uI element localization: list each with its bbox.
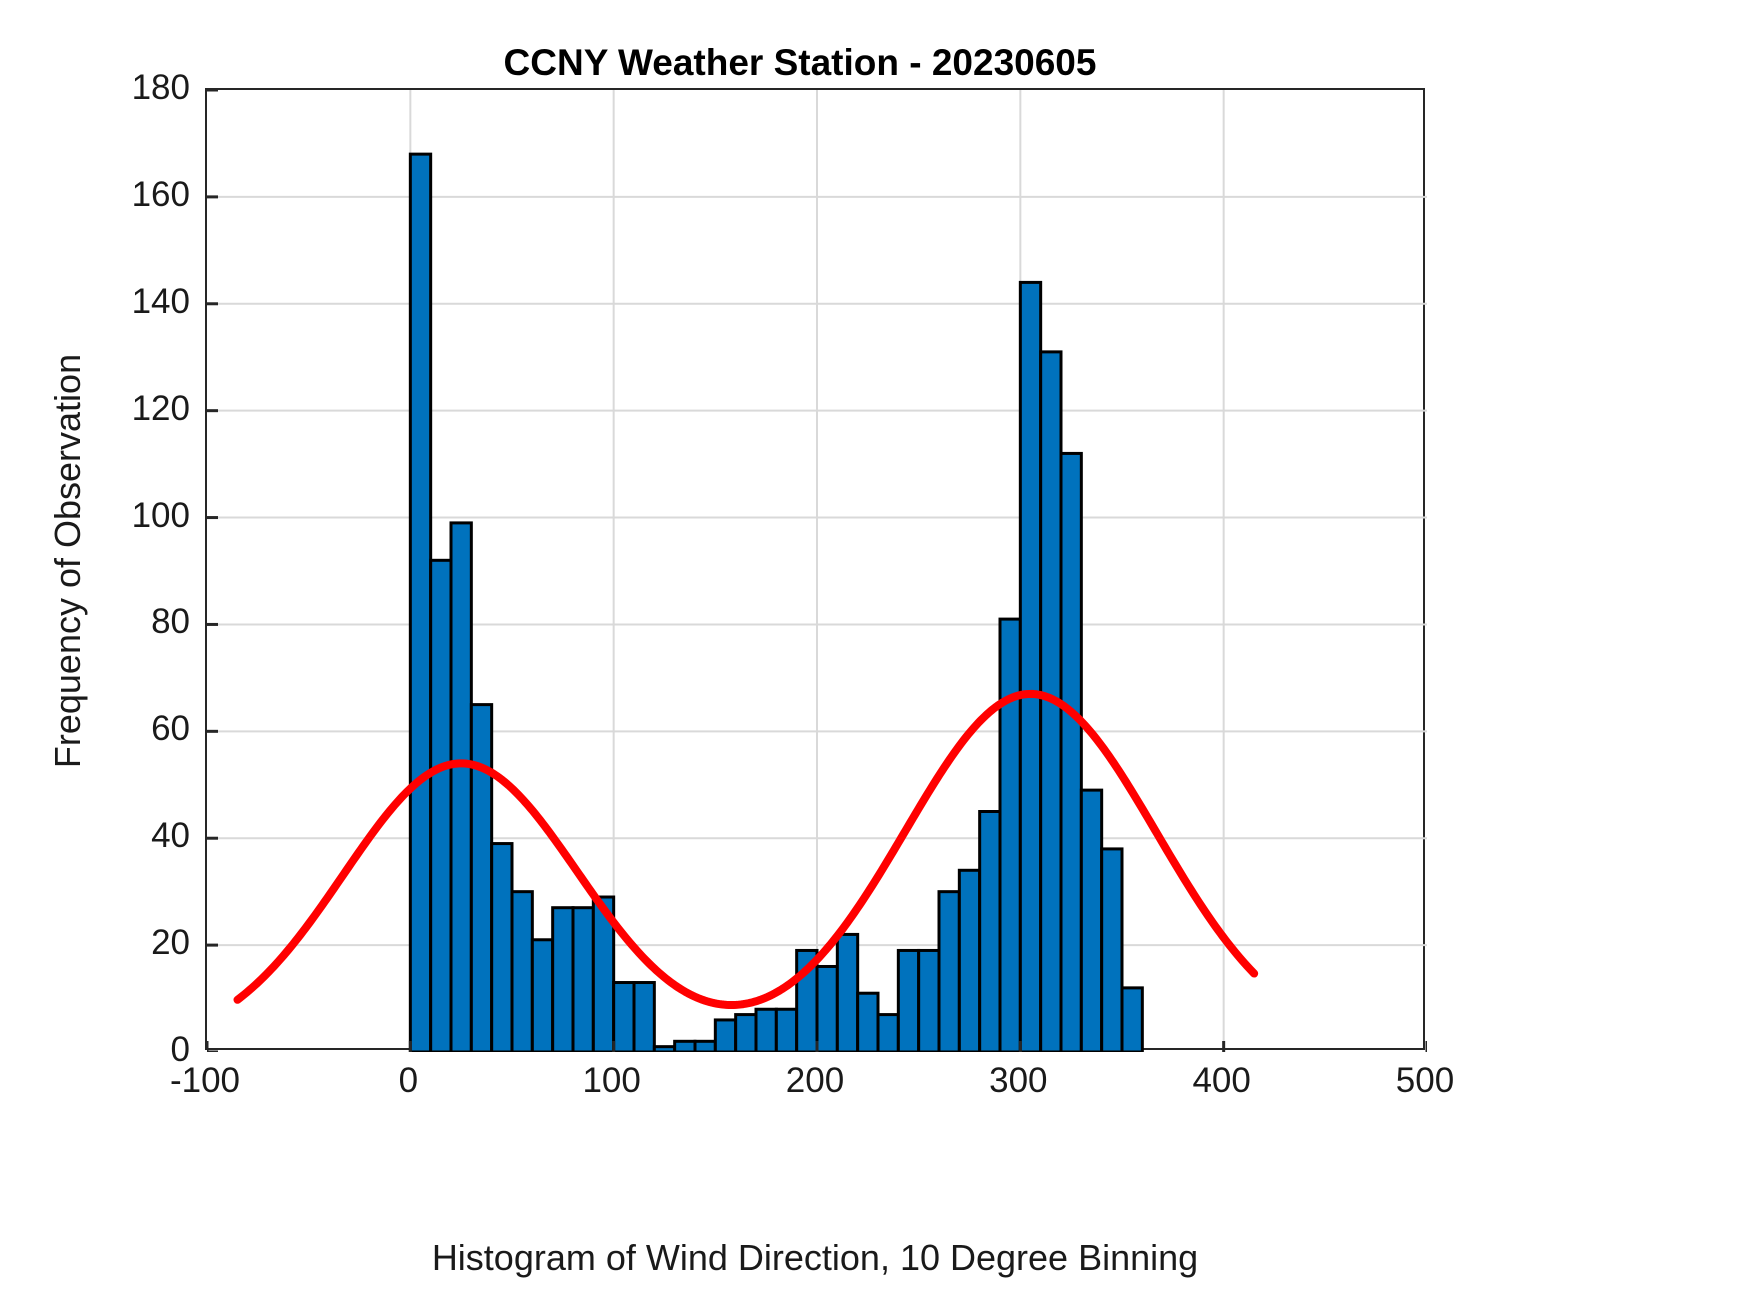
- histogram-bar: [817, 966, 837, 1052]
- y-tick-label: 20: [60, 925, 190, 960]
- x-axis-tick-labels: -1000100200300400500: [0, 1063, 1750, 1123]
- histogram-bar: [532, 940, 552, 1052]
- x-tick-label: 400: [1122, 1063, 1322, 1098]
- histogram-bar: [614, 983, 634, 1052]
- histogram-bar: [715, 1020, 735, 1052]
- histogram-bar: [1000, 619, 1020, 1052]
- histogram-bar: [410, 154, 430, 1052]
- histogram-bars: [410, 154, 1142, 1052]
- y-tick-label: 60: [60, 711, 190, 746]
- histogram-bar: [1061, 453, 1081, 1052]
- histogram-bar: [756, 1009, 776, 1052]
- x-tick-label: 500: [1325, 1063, 1525, 1098]
- x-tick-label: -100: [105, 1063, 305, 1098]
- y-tick-label: 100: [60, 498, 190, 533]
- x-tick-label: 300: [918, 1063, 1118, 1098]
- histogram-bar: [980, 812, 1000, 1053]
- histogram-bar: [939, 892, 959, 1052]
- histogram-bar: [675, 1041, 695, 1052]
- histogram-bar: [858, 993, 878, 1052]
- histogram-bar: [837, 934, 857, 1052]
- histogram-bar: [431, 560, 451, 1052]
- histogram-bar: [1122, 988, 1142, 1052]
- histogram-bar: [695, 1041, 715, 1052]
- y-tick-label: 140: [60, 284, 190, 319]
- histogram-bar: [471, 705, 491, 1052]
- histogram-bar: [1081, 790, 1101, 1052]
- y-tick-label: 160: [60, 177, 190, 212]
- histogram-bar: [1020, 282, 1040, 1052]
- histogram-bar: [776, 1009, 796, 1052]
- histogram-bar: [634, 983, 654, 1052]
- gridlines: [207, 90, 1427, 1052]
- y-tick-label: 40: [60, 818, 190, 853]
- y-tick-label: 120: [60, 391, 190, 426]
- x-tick-label: 200: [715, 1063, 915, 1098]
- histogram-bar: [654, 1047, 674, 1052]
- histogram-bar: [553, 908, 573, 1052]
- histogram-bar: [736, 1015, 756, 1052]
- histogram-bar: [959, 870, 979, 1052]
- histogram-bar: [1102, 849, 1122, 1052]
- y-tick-label: 80: [60, 604, 190, 639]
- x-axis-label: Histogram of Wind Direction, 10 Degree B…: [205, 1237, 1425, 1279]
- plot-area: [205, 88, 1425, 1050]
- histogram-bar: [492, 844, 512, 1052]
- histogram-bar: [573, 908, 593, 1052]
- x-tick-label: 0: [308, 1063, 508, 1098]
- chart-title: CCNY Weather Station - 20230605: [0, 42, 1600, 84]
- y-tick-label: 180: [60, 70, 190, 105]
- histogram-bar: [919, 950, 939, 1052]
- histogram-bar: [898, 950, 918, 1052]
- histogram-bar: [451, 523, 471, 1052]
- histogram-bar: [878, 1015, 898, 1052]
- plot-svg: [207, 90, 1427, 1052]
- histogram-bar: [512, 892, 532, 1052]
- x-tick-label: 100: [512, 1063, 712, 1098]
- chart-figure: CCNY Weather Station - 20230605 Frequenc…: [0, 0, 1750, 1313]
